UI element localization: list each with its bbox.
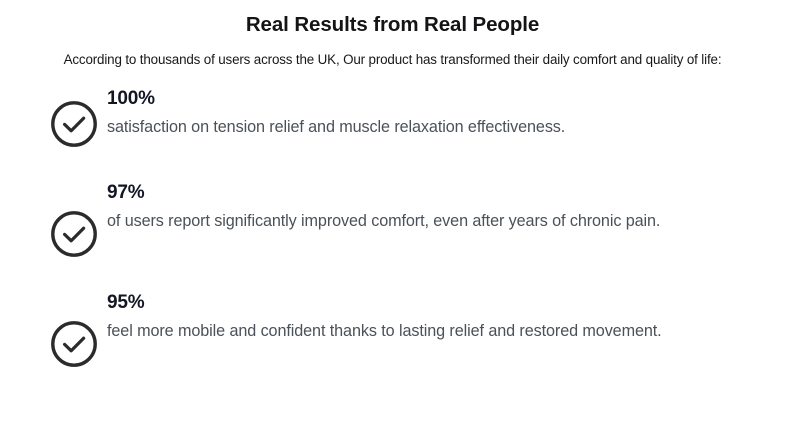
stat-text-group: 100% satisfaction on tension relief and … bbox=[107, 84, 755, 140]
results-section: Real Results from Real People According … bbox=[0, 0, 785, 430]
list-item: 95% feel more mobile and confident thank… bbox=[0, 288, 785, 368]
stat-value: 97% bbox=[107, 180, 755, 206]
stat-value: 100% bbox=[107, 86, 755, 112]
stat-value: 95% bbox=[107, 290, 755, 316]
check-circle-icon bbox=[50, 320, 98, 368]
section-subtitle: According to thousands of users across t… bbox=[0, 51, 785, 68]
page-title: Real Results from Real People bbox=[0, 12, 785, 38]
stat-description: feel more mobile and confident thanks to… bbox=[107, 318, 747, 344]
stat-text-group: 97% of users report significantly improv… bbox=[107, 178, 755, 234]
check-circle-icon bbox=[50, 100, 98, 148]
section-header: Real Results from Real People According … bbox=[0, 0, 785, 68]
check-circle-icon bbox=[50, 210, 98, 258]
stats-list: 100% satisfaction on tension relief and … bbox=[0, 84, 785, 368]
list-item: 100% satisfaction on tension relief and … bbox=[0, 84, 785, 148]
list-item: 97% of users report significantly improv… bbox=[0, 178, 785, 258]
stat-text-group: 95% feel more mobile and confident thank… bbox=[107, 288, 755, 344]
stat-description: of users report significantly improved c… bbox=[107, 208, 747, 234]
stat-description: satisfaction on tension relief and muscl… bbox=[107, 114, 747, 140]
